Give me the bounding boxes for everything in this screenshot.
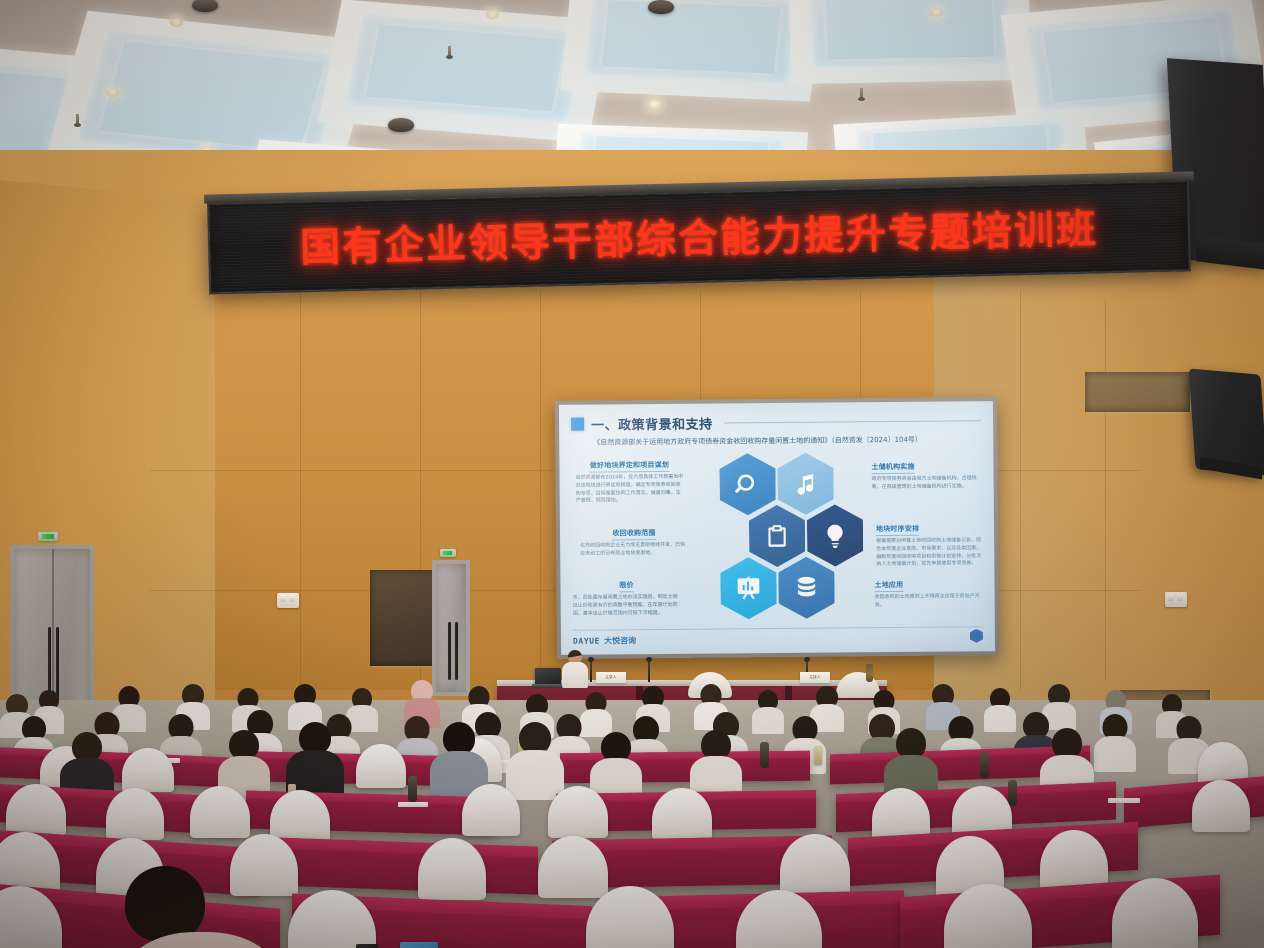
- audience-person: [1094, 714, 1136, 768]
- downlight: [486, 10, 499, 19]
- hexagon-cluster: [701, 452, 853, 633]
- thermos-flask: [760, 742, 769, 768]
- audience-person: [590, 732, 642, 798]
- conference-hall-scene: 国有企业领导干部综合能力提升专题培训班 一、政策背景和支持 《自然资源部关于运用…: [0, 0, 1264, 948]
- exit-door-right[interactable]: [432, 560, 470, 696]
- thermos-flask: [980, 752, 989, 778]
- slide-label-right-bottom: 土地应用 收回收购的土地原则上不得再次应用于房地产开发。: [874, 573, 982, 609]
- sprinkler-head-icon: [76, 114, 79, 125]
- smartphone[interactable]: [400, 942, 438, 948]
- thermos-flask: [1008, 780, 1017, 806]
- slide-title: 一、政策背景和支持: [591, 414, 713, 434]
- logo-text-en: DAYUE: [573, 636, 600, 645]
- hexagon-chart: [720, 557, 777, 619]
- downlight: [930, 8, 943, 17]
- slide-label-body: 优先收回收购企业无力或无意愿继续开发、已供应未动工的已有商业地块使用地。: [580, 542, 688, 558]
- slide-label-body: 自然资源部在2024年，在六项具体工作部署当中对该地块进行界定和梳理，确定专项债…: [576, 474, 684, 506]
- chart-board-icon: [735, 575, 761, 601]
- smartphone[interactable]: [356, 944, 378, 948]
- logo-text-cn: 大悦咨询: [604, 635, 636, 646]
- slide-label-title: 收回收购范围: [612, 528, 655, 540]
- slide-subtitle: 《自然资源部关于运用地方政府专项债券资金收回收购存量闲置土地的通知》（自然资发〔…: [593, 434, 981, 447]
- exit-sign-right: [440, 549, 456, 557]
- search-icon: [735, 471, 761, 497]
- presenter-logo: DAYUE 大悦咨询: [573, 632, 636, 647]
- audience-person: [984, 688, 1016, 730]
- audience-person: [884, 728, 938, 796]
- wall-seam: [860, 290, 861, 400]
- drinking-cup: [814, 746, 822, 765]
- hexagon-database: [778, 557, 835, 619]
- slide-footer: DAYUE 大悦咨询: [573, 626, 983, 648]
- slide-label-left-bottom: 限价 市、县处置存量闲置土地办法实施后，制定土地出让价和原有价的调整平衡预案，在…: [572, 574, 680, 618]
- hexagon-search: [719, 453, 776, 515]
- slide-label-body: 政府专项债券资金由地方土地储备机构，合理统筹，在县级管理的土地储备机构进行实施。: [872, 475, 980, 491]
- hexagon-music: [777, 453, 834, 515]
- smoke-detector-icon: [648, 0, 674, 14]
- thermos-flask: [408, 776, 417, 802]
- wall-seam: [700, 290, 701, 400]
- door-handle-icon[interactable]: [455, 622, 458, 680]
- database-icon: [793, 575, 819, 601]
- slide-label-left-middle: 收回收购范围 优先收回收购企业无力或无意愿继续开发、已供应未动工的已有商业地块使…: [580, 522, 688, 558]
- audience-person: [430, 722, 488, 796]
- ceiling-light-panel: [788, 0, 1032, 84]
- slide-header: 一、政策背景和支持: [571, 411, 981, 434]
- slide-label-title: 做好地块界定和项目谋划: [590, 460, 669, 473]
- audience-person-foreground: [126, 866, 276, 948]
- clipboard-icon: [764, 523, 790, 549]
- wall-seam: [540, 290, 541, 690]
- microphone-icon: [648, 660, 650, 682]
- slide-label-body: 收回收购的土地原则上不得再次应用于房地产开发。: [875, 593, 983, 609]
- audience-chair: [780, 834, 850, 896]
- wall-seam: [1105, 300, 1106, 680]
- wall-recess-panel: [1085, 372, 1190, 412]
- audience-table: [268, 837, 538, 894]
- smoke-detector-icon: [388, 118, 414, 132]
- downlight: [106, 88, 119, 97]
- paper-sheet: [1108, 798, 1140, 803]
- lightbulb-icon: [822, 522, 848, 548]
- presentation-slide: 一、政策背景和支持 《自然资源部关于运用地方政府专项债券资金收回收购存量闲置土地…: [559, 401, 995, 655]
- wall-seam: [300, 290, 301, 690]
- hexagon-idea: [807, 504, 864, 566]
- wall-switch-plate[interactable]: [277, 593, 299, 608]
- slide-label-title: 地块时序安排: [876, 524, 919, 536]
- microphone-icon: [590, 660, 592, 682]
- led-banner-text: 国有企业领导干部综合能力提升专题培训班: [299, 197, 1098, 274]
- slide-label-body: 市、县处置存量闲置土地办法实施后，制定土地出让价和原有价的调整平衡预案，在年度计…: [573, 594, 681, 618]
- door-handle-icon[interactable]: [448, 622, 451, 680]
- wall-seam: [1020, 290, 1021, 690]
- slide-hexagon-diagram: 做好地块界定和项目谋划 自然资源部在2024年，在六项具体工作部署当中对该地块进…: [559, 449, 995, 633]
- audience-area: [0, 680, 1264, 948]
- projection-screen-frame: 一、政策背景和支持 《自然资源部关于运用地方政府专项债券资金收回收购存量闲置土地…: [555, 397, 999, 659]
- footer-hexagon-icon: [970, 629, 983, 643]
- audience-person: [690, 730, 742, 796]
- hexagon-clipboard: [749, 505, 806, 567]
- projection-screen: 一、政策背景和支持 《自然资源部关于运用地方政府专项债券资金收回收购存量闲置土地…: [559, 401, 995, 655]
- paper-sheet: [398, 802, 428, 807]
- slide-label-title: 土地应用: [874, 580, 903, 592]
- slide-label-title: 土储机构实施: [871, 462, 914, 474]
- downlight: [170, 18, 183, 27]
- slide-title-rule: [724, 420, 981, 423]
- slide-bullet-square-icon: [571, 418, 584, 431]
- slide-label-right-top: 土储机构实施 政府专项债券资金由地方土地储备机构，合理统筹，在县级管理的土地储备…: [871, 455, 979, 491]
- exit-sign-left: [38, 532, 58, 541]
- wall-switch-plate[interactable]: [1165, 592, 1187, 607]
- audience-person: [752, 690, 784, 732]
- ceiling-light-panel: [560, 0, 822, 101]
- slide-label-body: 根据需要对闲置土地收回收购土地储备公告，结合本年度企业意愿，市场需求，以及各类因…: [876, 537, 984, 569]
- sprinkler-head-icon: [448, 46, 451, 57]
- slide-label-title: 限价: [619, 580, 634, 592]
- slide-label-right-middle: 地块时序安排 根据需要对闲置土地收回收购土地储备公告，结合本年度企业意愿，市场需…: [876, 517, 984, 569]
- music-note-icon: [793, 471, 819, 497]
- downlight: [648, 100, 661, 109]
- sprinkler-head-icon: [860, 88, 863, 99]
- slide-label-left-top: 做好地块界定和项目谋划 自然资源部在2024年，在六项具体工作部署当中对该地块进…: [575, 454, 683, 506]
- smoke-detector-icon: [192, 0, 218, 12]
- audience-person: [506, 722, 564, 796]
